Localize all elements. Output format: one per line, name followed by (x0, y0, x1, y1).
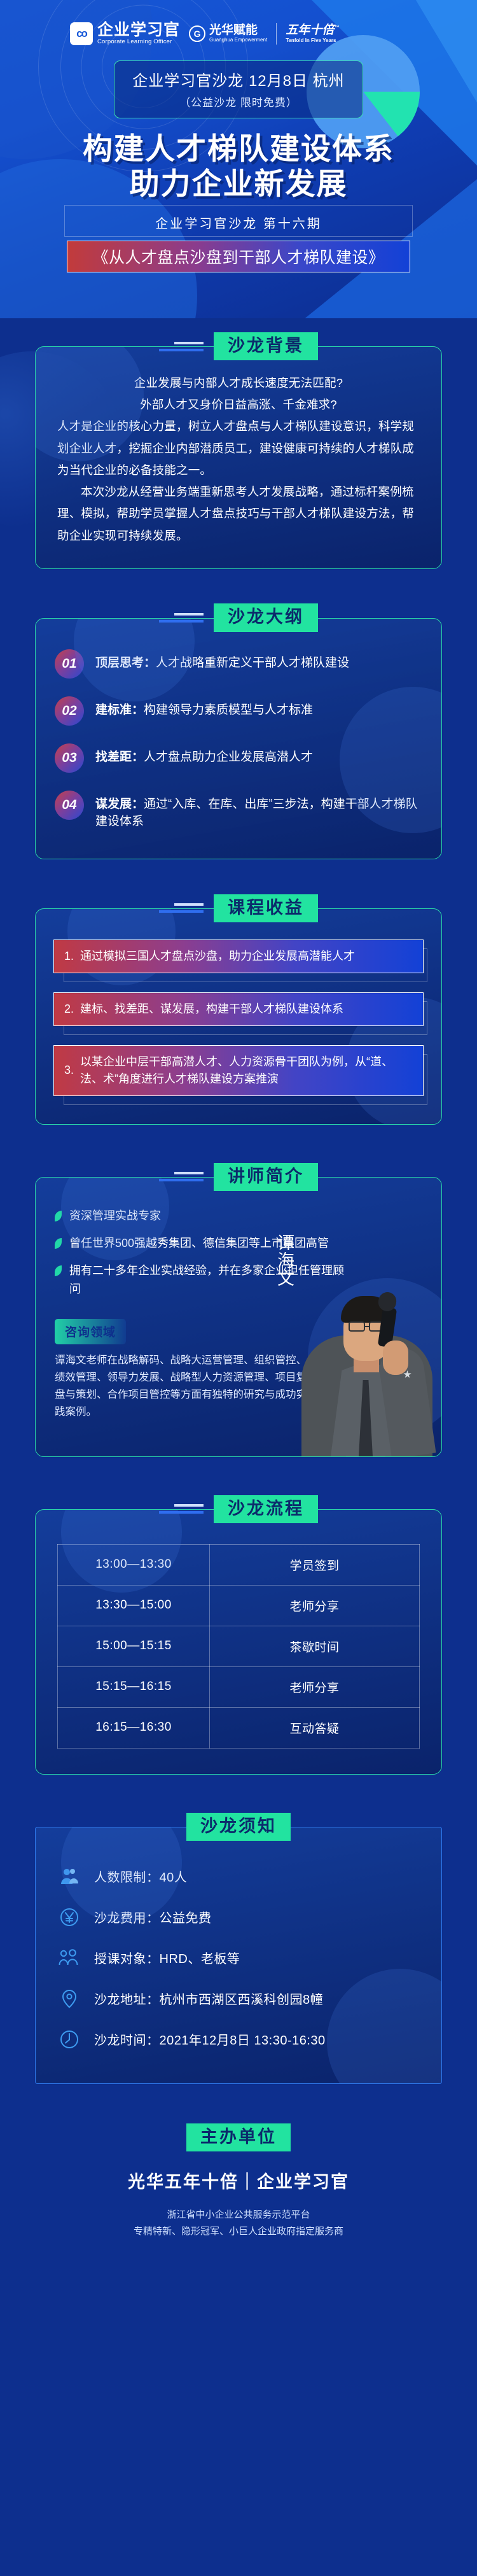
list-item: 沙龙时间：2021年12月8日 13:30-16:30 (57, 2027, 420, 2052)
outline-body: 人才战略重新定义干部人才梯队建设 (156, 656, 349, 670)
consulting-area-tag: 咨询领域 (55, 1319, 126, 1344)
people-icon (57, 1946, 81, 1970)
organizer-name: 光华五年十倍｜企业学习官 (0, 2168, 477, 2193)
section-header-notice: 沙龙须知 (0, 1813, 477, 1841)
section-title-agenda: 沙龙流程 (214, 1495, 318, 1524)
benefits-card: 1. 通过模拟三国人才盘点沙盘，助力企业发展高潜能人才 2. 建标、找差距、谋发… (35, 908, 442, 1125)
agenda-time: 15:00—15:15 (58, 1626, 210, 1666)
outline-body: 构建领导力素质模型与人才标准 (144, 703, 313, 717)
section-header-speaker: 讲师简介 (0, 1163, 477, 1191)
agenda-time: 13:00—13:30 (58, 1544, 210, 1585)
list-item: 人数限制：40人 (57, 1864, 420, 1889)
section-title-organizer: 主办单位 (186, 2123, 291, 2152)
benefit-text: 建标、找差距、谋发展，构建干部人才梯队建设体系 (80, 1001, 343, 1018)
page-title-line1: 构建人才梯队建设体系 (0, 131, 477, 166)
outline-card: 01 顶层思考：人才战略重新定义干部人才梯队建设 02 建标准：构建领导力素质模… (35, 618, 442, 859)
notice-text: 人数限制：40人 (94, 1867, 187, 1885)
notice-text: 沙龙地址：杭州市西湖区西溪科创园8幢 (94, 1989, 323, 2008)
agenda-activity: 老师分享 (209, 1666, 419, 1707)
section-header-background: 沙龙背景 (0, 332, 477, 360)
benefit-number: 1. (64, 948, 74, 965)
page-title-line2: 助力企业新发展 (0, 166, 477, 201)
agenda-activity: 茶歇时间 (209, 1626, 419, 1666)
benefit-bar: 2. 建标、找差距、谋发展，构建干部人才梯队建设体系 (53, 992, 424, 1026)
table-row: 13:00—13:30 学员签到 (58, 1544, 420, 1585)
header-dashes (159, 1504, 204, 1514)
speaker-photo (287, 1246, 442, 1456)
guanghua-logo-icon: G (189, 25, 205, 42)
agenda-activity: 老师分享 (209, 1585, 419, 1626)
tenfold-logo-cn: 五年十倍 (286, 24, 334, 37)
list-item: 沙龙费用：公益免费 (57, 1905, 420, 1929)
trademark-icon: ™ (334, 24, 339, 30)
event-date-badge: 企业学习官沙龙 12月8日 杭州 （公益沙龙 限时免费） (114, 60, 363, 118)
benefit-text: 以某企业中层干部高潜人才、人力资源骨干团队为例，从“道、法、术”角度进行人才梯队… (80, 1053, 413, 1088)
outline-label: 谋发展： (95, 798, 144, 811)
benefit-bar: 3. 以某企业中层干部高潜人才、人力资源骨干团队为例，从“道、法、术”角度进行人… (53, 1045, 424, 1096)
list-item: 02 建标准：构建领导力素质模型与人才标准 (55, 696, 422, 726)
clo-logo-en: Corporate Learning Officer (97, 38, 180, 46)
benefit-text: 通过模拟三国人才盘点沙盘，助力企业发展高潜能人才 (80, 948, 355, 965)
list-item: 3. 以某企业中层干部高潜人才、人力资源骨干团队为例，从“道、法、术”角度进行人… (53, 1045, 424, 1096)
list-item: 04 谋发展：通过“入库、在库、出库”三步法，构建干部人才梯队建设体系 (55, 791, 422, 831)
section-title-notice: 沙龙须知 (186, 1813, 291, 1841)
hero-subtitle: 企业学习官沙龙 第十六期 (0, 213, 477, 232)
list-item: 资深管理实战专家 (55, 1207, 422, 1225)
list-item: 03 找差距：人才盘点助力企业发展高潜人才 (55, 743, 422, 773)
list-item: 01 顶层思考：人才战略重新定义干部人才梯队建设 (55, 649, 422, 679)
list-item: 授课对象：HRD、老板等 (57, 1946, 420, 1970)
outline-body: 通过“入库、在库、出库”三步法，构建干部人才梯队建设体系 (95, 798, 418, 829)
outline-number: 01 (55, 649, 84, 679)
clock-icon (57, 2027, 81, 2052)
tenfold-logo-en: Tenfold In Five Years (286, 38, 339, 44)
logo-divider (276, 23, 277, 45)
agenda-time: 16:15—16:30 (58, 1707, 210, 1748)
table-row: 16:15—16:30 互动答疑 (58, 1707, 420, 1748)
list-item: 1. 通过模拟三国人才盘点沙盘，助力企业发展高潜能人才 (53, 940, 424, 973)
speaker-bullet: 资深管理实战专家 (69, 1207, 161, 1225)
benefit-number: 3. (64, 1062, 74, 1079)
logo-bar: co 企业学习官 Corporate Learning Officer G 光华… (0, 0, 477, 46)
section-header-outline: 沙龙大纲 (0, 604, 477, 632)
speaker-name: 谭海文 (268, 1234, 294, 1287)
leaf-bullet-icon (55, 1265, 62, 1276)
benefit-number: 2. (64, 1001, 74, 1018)
list-item: 2. 建标、找差距、谋发展，构建干部人才梯队建设体系 (53, 992, 424, 1026)
table-row: 15:00—15:15 茶歇时间 (58, 1626, 420, 1666)
location-pin-icon (57, 1987, 81, 2011)
leaf-bullet-icon (55, 1211, 62, 1221)
background-para-1: 外部人才又身价日益高涨、千金难求? (57, 394, 420, 416)
section-header-benefits: 课程收益 (0, 894, 477, 922)
agenda-activity: 互动答疑 (209, 1707, 419, 1748)
event-free-note: （公益沙龙 限时免费） (114, 94, 363, 109)
logo-corporate-learning-officer: co 企业学习官 Corporate Learning Officer (70, 22, 180, 46)
background-body: 企业发展与内部人才成长速度无法匹配? 外部人才又身价日益高涨、千金难求? 人才是… (57, 372, 420, 547)
notice-text: 授课对象：HRD、老板等 (94, 1948, 240, 1967)
background-para-0: 企业发展与内部人才成长速度无法匹配? (57, 372, 420, 394)
section-header-agenda: 沙龙流程 (0, 1495, 477, 1523)
section-course-benefits: 课程收益 1. 通过模拟三国人才盘点沙盘，助力企业发展高潜能人才 2. 建标、找… (0, 894, 477, 1125)
outline-number: 02 (55, 696, 84, 726)
agenda-time: 13:30—15:00 (58, 1585, 210, 1626)
person-icon (57, 1864, 81, 1889)
agenda-table: 13:00—13:30 学员签到 13:30—15:00 老师分享 15:00—… (57, 1544, 420, 1749)
section-title-benefits: 课程收益 (214, 894, 318, 923)
section-title-outline: 沙龙大纲 (214, 603, 318, 632)
clo-logo-cn: 企业学习官 (97, 22, 180, 38)
organizer-sub-line1: 浙江省中小企业公共服务示范平台 (0, 2207, 477, 2223)
leaf-bullet-icon (55, 1238, 62, 1249)
header-dashes (159, 1172, 204, 1181)
organizer-sub-line2: 专精特新、隐形冠军、小巨人企业政府指定服务商 (0, 2223, 477, 2240)
outline-label: 找差距： (95, 750, 144, 764)
hero-banner: co 企业学习官 Corporate Learning Officer G 光华… (0, 0, 477, 318)
background-para-3: 本次沙龙从经营业务端重新思考人才发展战略，通过标杆案例梳理、模拟，帮助学员掌握人… (57, 481, 420, 547)
guanghua-logo-en: Guanghua Empowerment (209, 37, 267, 43)
list-item: 沙龙地址：杭州市西湖区西溪科创园8幢 (57, 1987, 420, 2011)
section-title-background: 沙龙背景 (214, 332, 318, 361)
background-para-2: 人才是企业的核心力量，树立人才盘点与人才梯队建设意识，科学规划企业人才，挖掘企业… (57, 416, 420, 481)
agenda-activity: 学员签到 (209, 1544, 419, 1585)
section-title-speaker: 讲师简介 (214, 1163, 318, 1192)
notice-text: 沙龙时间：2021年12月8日 13:30-16:30 (94, 2030, 326, 2048)
table-row: 13:30—15:00 老师分享 (58, 1585, 420, 1626)
yuan-coin-icon (57, 1905, 81, 1929)
section-salon-outline: 沙龙大纲 01 顶层思考：人才战略重新定义干部人才梯队建设 02 建标准：构建领… (0, 604, 477, 859)
section-header-organizer: 主办单位 (0, 2123, 477, 2151)
header-dashes (159, 903, 204, 913)
section-salon-notice: 沙龙须知 人数限制：40人 (0, 1813, 477, 2084)
agenda-time: 15:15—16:15 (58, 1666, 210, 1707)
outline-body: 人才盘点助力企业发展高潜人才 (144, 750, 313, 764)
speaker-description: 谭海文老师在战略解码、战略大运营管理、组织管控、绩效管理、领导力发展、战略型人力… (55, 1352, 309, 1420)
notice-card: 人数限制：40人 沙龙费用：公益免费 (35, 1827, 442, 2084)
section-organizer: 主办单位 光华五年十倍｜企业学习官 浙江省中小企业公共服务示范平台 专精特新、隐… (0, 2123, 477, 2298)
event-date-line: 企业学习官沙龙 12月8日 杭州 (114, 68, 363, 90)
background-card: 企业发展与内部人才成长速度无法匹配? 外部人才又身价日益高涨、千金难求? 人才是… (35, 346, 442, 569)
outline-label: 建标准： (95, 703, 144, 717)
section-salon-agenda: 沙龙流程 13:00—13:30 学员签到 13:30—15:00 老师分享 1… (0, 1495, 477, 1775)
section-speaker-profile: 讲师简介 资深管理实战专家 曾任世界500强越秀集团、德信集团等上市集团高管 拥… (0, 1163, 477, 1457)
section-salon-background: 沙龙背景 企业发展与内部人才成长速度无法匹配? 外部人才又身价日益高涨、千金难求… (0, 332, 477, 569)
logo-guanghua: G 光华赋能 Guanghua Empowerment (189, 24, 267, 43)
agenda-card: 13:00—13:30 学员签到 13:30—15:00 老师分享 15:00—… (35, 1509, 442, 1775)
guanghua-logo-cn: 光华赋能 (209, 24, 267, 37)
benefit-bar: 1. 通过模拟三国人才盘点沙盘，助力企业发展高潜能人才 (53, 940, 424, 973)
outline-number: 03 (55, 743, 84, 773)
notice-text: 沙龙费用：公益免费 (94, 1908, 212, 1926)
page-title: 构建人才梯队建设体系 助力企业新发展 (0, 131, 477, 202)
logo-tenfold: 五年十倍™ Tenfold In Five Years (286, 24, 339, 44)
topic-banner: 《从人才盘点沙盘到干部人才梯队建设》 (67, 241, 410, 272)
outline-number: 04 (55, 791, 84, 820)
speaker-card: 资深管理实战专家 曾任世界500强越秀集团、德信集团等上市集团高管 拥有二十多年… (35, 1177, 442, 1457)
table-row: 15:15—16:15 老师分享 (58, 1666, 420, 1707)
outline-label: 顶层思考： (95, 656, 156, 670)
clo-logo-icon: co (70, 22, 93, 45)
poster-root: co 企业学习官 Corporate Learning Officer G 光华… (0, 0, 477, 2576)
header-dashes (159, 342, 204, 351)
header-dashes (159, 613, 204, 623)
